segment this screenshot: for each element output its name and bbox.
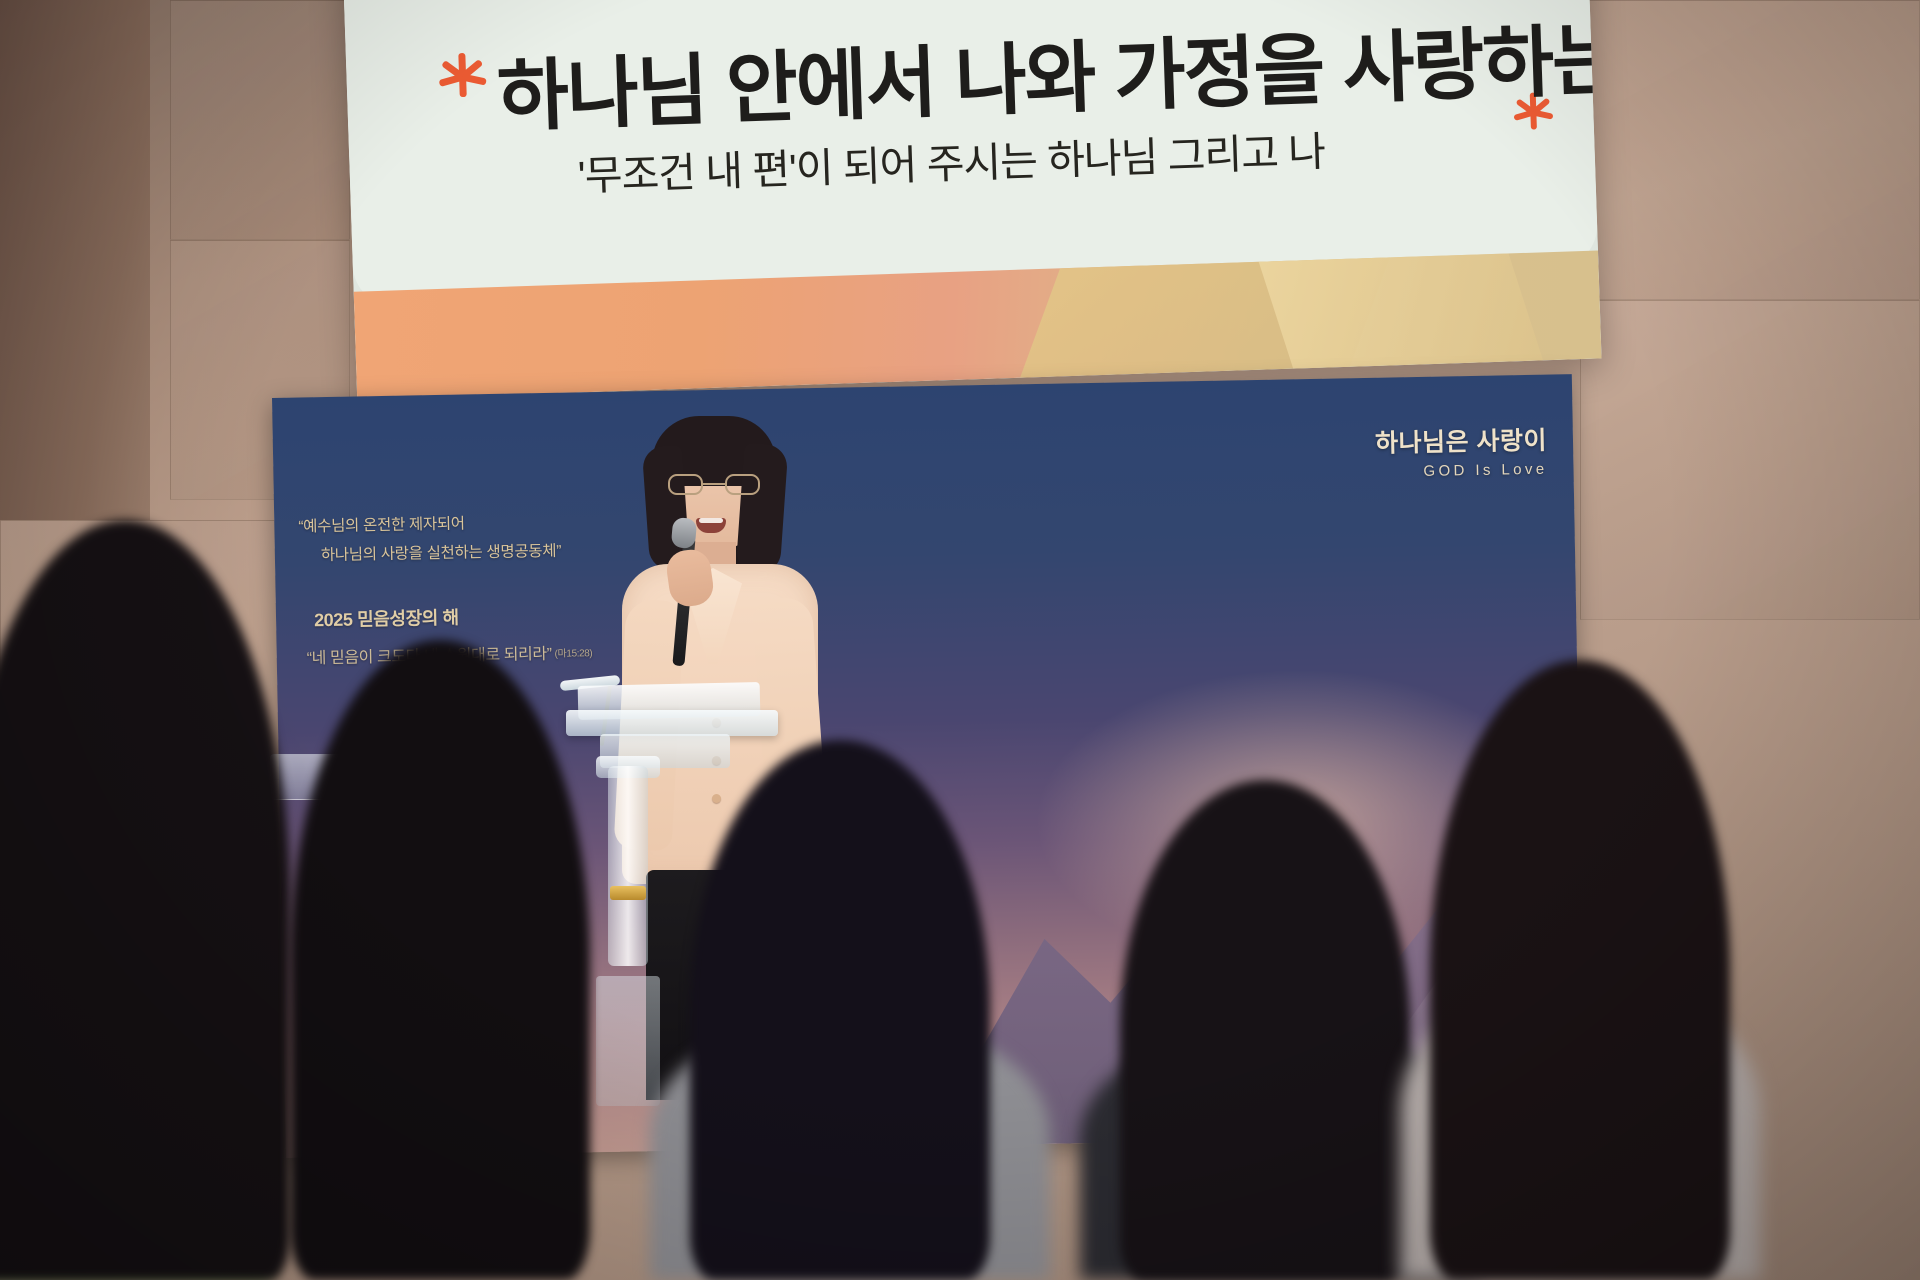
wall-dark-panel-left — [0, 0, 150, 520]
audience-head — [290, 640, 590, 1280]
podium-column — [608, 766, 648, 966]
projection-screen: 하나님 안에서 나와 가정을 사랑하는 법 '무조건 내 편'이 되어 주시는 … — [340, 0, 1602, 400]
maple-leaf-icon — [442, 53, 484, 100]
band-shape — [1259, 253, 1543, 368]
banner-slogan-english: GOD Is Love — [1375, 461, 1547, 481]
podium-base — [596, 976, 660, 1106]
speaker-hair-right — [736, 443, 789, 576]
wall-panel — [170, 0, 350, 240]
audience-head — [690, 740, 990, 1280]
banner-right-slogan: 하나님은 사랑이 GOD Is Love — [1375, 421, 1548, 481]
audience-head — [1430, 660, 1730, 1280]
wall-panel — [1580, 300, 1920, 620]
podium-gold-ring — [610, 886, 646, 900]
glasses-icon — [668, 474, 760, 496]
banner-slogan-korean: 하나님은 사랑이 — [1375, 421, 1548, 460]
wall-panel — [1580, 0, 1920, 300]
audience-head — [1120, 780, 1410, 1280]
screen-surface: 하나님 안에서 나와 가정을 사랑하는 법 '무조건 내 편'이 되어 주시는 … — [340, 0, 1602, 400]
podium-desk — [566, 710, 778, 736]
banner-verse-reference: (마15:28) — [555, 649, 593, 661]
photo-scene: 하나님 안에서 나와 가정을 사랑하는 법 '무조건 내 편'이 되어 주시는 … — [0, 0, 1920, 1280]
